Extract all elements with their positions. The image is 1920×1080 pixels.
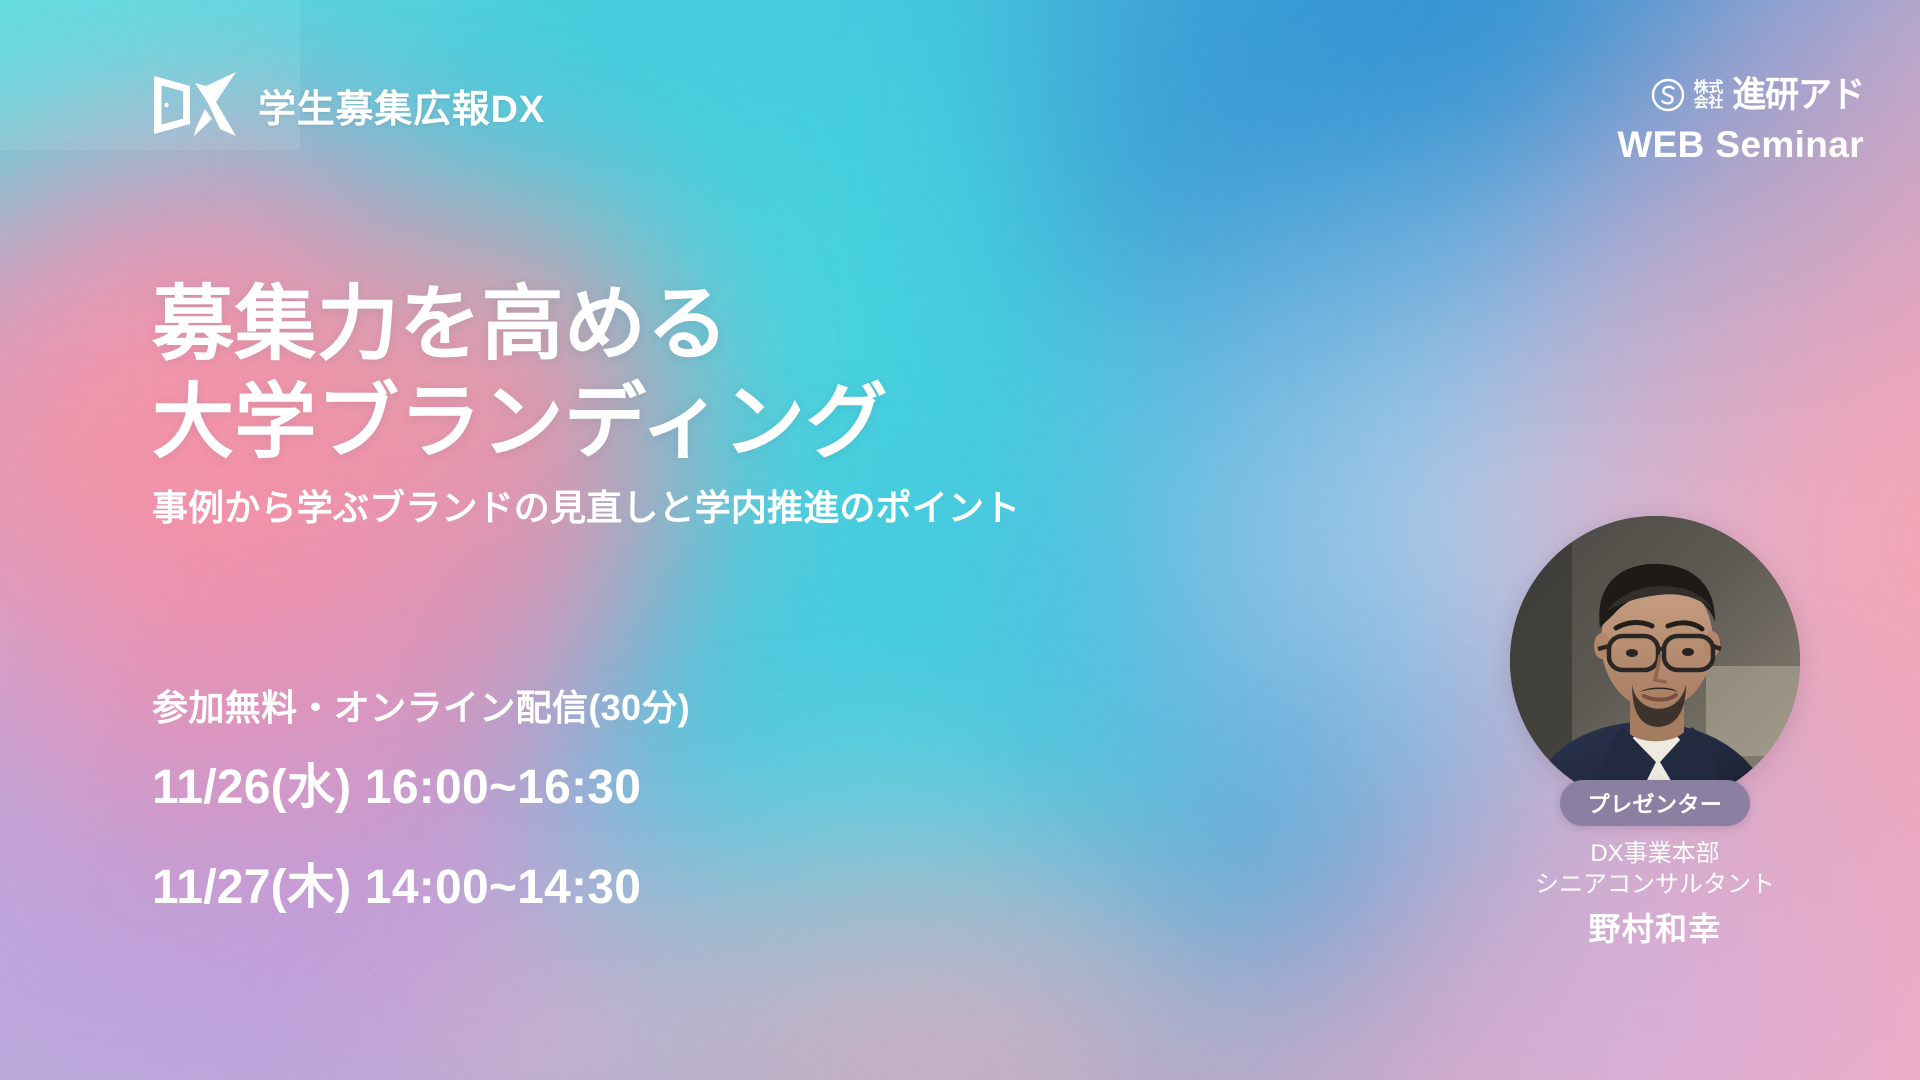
- title-line-2: 大学ブランディング: [152, 374, 1332, 472]
- shinken-ad-s-icon: [1651, 78, 1685, 112]
- avatar: [1510, 516, 1800, 806]
- status-badge: プレゼンター: [1560, 780, 1750, 826]
- corporate-kabushiki-kaisha: 株式 会社: [1694, 80, 1723, 111]
- page-subtitle: 事例から学ぶブランドの見直しと学内推進のポイント: [152, 485, 1332, 530]
- presenter-portrait-icon: [1510, 516, 1800, 806]
- presenter-department: DX事業本部 シニアコンサルタント: [1494, 838, 1816, 900]
- brand-lockup: 学生募集広報DX: [150, 72, 545, 138]
- presenter-department-line2: シニアコンサルタント: [1494, 869, 1816, 900]
- title-line-1: 募集力を高める: [152, 279, 729, 370]
- presenter-department-line1: DX事業本部: [1494, 838, 1816, 869]
- dx-door-mark-icon: [150, 72, 236, 138]
- free-admission-note: 参加無料・オンライン配信(30分): [152, 686, 690, 729]
- session-datetime-1: 11/26(水) 16:00~16:30: [152, 759, 690, 817]
- corporate-kk-line2: 会社: [1694, 95, 1723, 110]
- brand-title: 学生募集広報DX: [258, 78, 545, 133]
- corporate-lockup: 株式 会社 進研アド WEB Seminar: [1617, 78, 1864, 166]
- page-title: 募集力を高める 大学ブランディング: [152, 276, 1332, 471]
- schedule-block: 参加無料・オンライン配信(30分) 11/26(水) 16:00~16:30 1…: [152, 686, 690, 916]
- corporate-kk-line1: 株式: [1694, 80, 1723, 95]
- seminar-type-label: WEB Seminar: [1617, 124, 1864, 166]
- headline-block: 募集力を高める 大学ブランディング 事例から学ぶブランドの見直しと学内推進のポイ…: [152, 276, 1332, 530]
- corporate-logo: 株式 会社 進研アド: [1617, 78, 1864, 112]
- corporate-name: 進研アド: [1732, 77, 1864, 113]
- presenter-block: プレゼンター DX事業本部 シニアコンサルタント 野村和幸: [1494, 516, 1816, 950]
- presenter-name: 野村和幸: [1494, 904, 1816, 950]
- seminar-banner: 学生募集広報DX 株式 会社 進研アド WEB Seminar 募集力を高める …: [0, 0, 1920, 1080]
- session-datetime-2: 11/27(木) 14:00~14:30: [152, 859, 690, 917]
